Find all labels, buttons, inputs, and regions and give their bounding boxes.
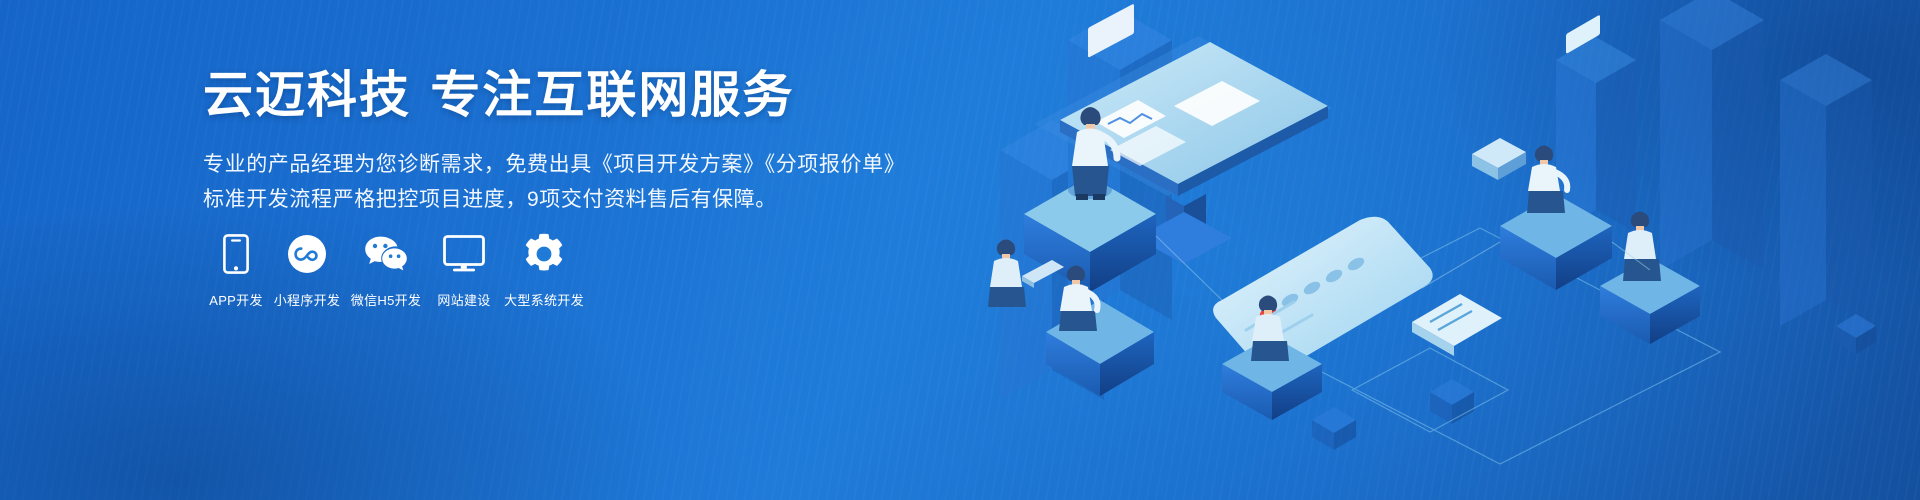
service-item-wechat-h5[interactable]: 微信H5开发 [345,232,427,309]
service-label: 微信H5开发 [351,290,421,309]
hero-subtitle: 专业的产品经理为您诊断需求，免费出具《项目开发方案》《分项报价单》 标准开发流程… [203,147,963,217]
service-item-large-system[interactable]: 大型系统开发 [501,232,587,309]
wechat-icon [364,232,408,276]
subtitle-line-1: 专业的产品经理为您诊断需求，免费出具《项目开发方案》《分项报价单》 [203,147,963,182]
service-item-app[interactable]: APP开发 [203,232,269,309]
hero-banner: 云迈科技 专注互联网服务 专业的产品经理为您诊断需求，免费出具《项目开发方案》《… [0,0,1920,500]
data-sheet [1213,217,1433,372]
service-label: APP开发 [209,290,263,309]
service-item-website[interactable]: 网站建设 [427,232,501,309]
mini-program-icon [285,232,329,276]
decorative-diamonds [1312,314,1876,450]
page-title: 云迈科技 专注互联网服务 [203,66,963,125]
service-label: 大型系统开发 [504,290,584,309]
isometric-illustration [960,0,1920,500]
service-item-mini-program[interactable]: 小程序开发 [269,232,345,309]
floating-badge [1472,138,1526,180]
service-list: APP开发 小程序开发 微信 [203,232,587,309]
gear-icon [522,232,566,276]
service-label: 小程序开发 [274,290,341,309]
floating-ui-card [1412,294,1502,356]
mobile-phone-icon [214,232,258,276]
hero-content: 云迈科技 专注互联网服务 专业的产品经理为您诊断需求，免费出具《项目开发方案》《… [203,66,963,217]
monitor-icon [442,232,486,276]
subtitle-line-2: 标准开发流程严格把控项目进度，9项交付资料售后有保障。 [203,182,963,217]
service-label: 网站建设 [437,290,490,309]
